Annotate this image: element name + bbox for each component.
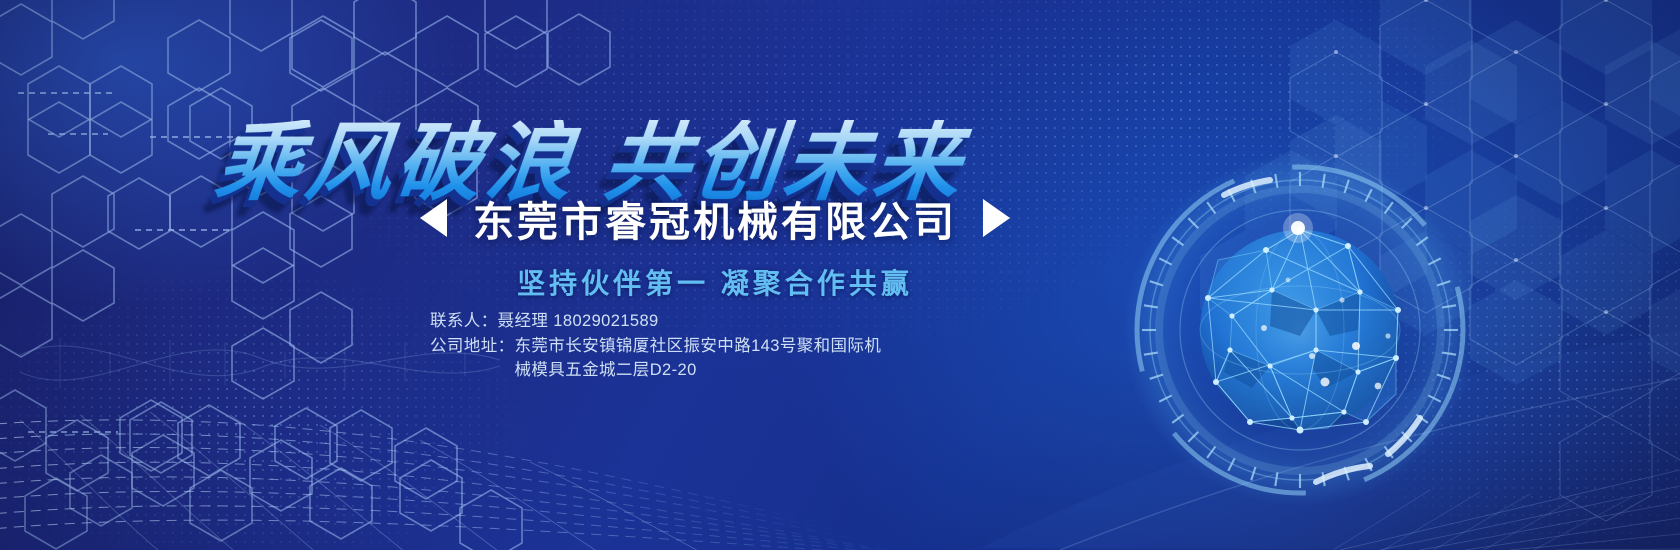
contact-info-block: 联系人： 聂经理 18029021589 公司地址： 东莞市长安镇锦厦社区振安中… [430, 310, 890, 382]
contact-person-line: 联系人： 聂经理 18029021589 [430, 310, 890, 333]
company-name-row: 东莞市睿冠机械有限公司 [0, 188, 1430, 248]
company-address-line: 公司地址： 东莞市长安镇锦厦社区振安中路143号聚和国际机械模具五金城二层D2-… [430, 335, 890, 382]
company-name: 东莞市睿冠机械有限公司 [473, 188, 957, 248]
company-address-label: 公司地址： [430, 335, 515, 358]
left-triangle-marker [420, 199, 447, 237]
banner-content: 乘风破浪 共创未来 东莞市睿冠机械有限公司 坚持伙伴第一 凝聚合作共赢 联系人：… [0, 0, 1040, 550]
contact-person-value: 聂经理 18029021589 [498, 310, 890, 333]
right-triangle-marker [983, 199, 1010, 237]
company-address-value: 东莞市长安镇锦厦社区振安中路143号聚和国际机械模具五金城二层D2-20 [515, 335, 891, 382]
company-slogan: 坚持伙伴第一 凝聚合作共赢 [0, 262, 1430, 302]
promotional-banner: 乘风破浪 共创未来 东莞市睿冠机械有限公司 坚持伙伴第一 凝聚合作共赢 联系人：… [0, 0, 1680, 550]
contact-person-label: 联系人： [430, 310, 498, 333]
